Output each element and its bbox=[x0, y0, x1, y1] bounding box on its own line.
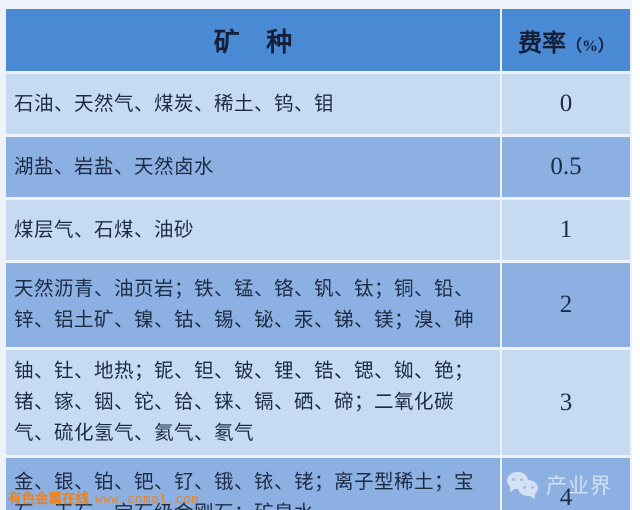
table-header-row: 矿 种 费率（%） bbox=[6, 9, 630, 71]
mineral-fee-rate-table: 矿 种 费率（%） 石油、天然气、煤炭、稀土、钨、钼 0 湖盐、岩盐、天然卤水 … bbox=[4, 6, 632, 510]
cell-mineral: 石油、天然气、煤炭、稀土、钨、钼 bbox=[6, 74, 500, 134]
table-row: 石油、天然气、煤炭、稀土、钨、钼 0 bbox=[6, 74, 630, 134]
screenshot-root: 矿 种 费率（%） 石油、天然气、煤炭、稀土、钨、钼 0 湖盐、岩盐、天然卤水 … bbox=[0, 0, 640, 510]
wechat-dot-icon bbox=[520, 478, 523, 481]
watermark-wechat-label: 产业界 bbox=[546, 470, 612, 500]
cell-mineral: 天然沥青、油页岩；铁、锰、铬、钒、钛；铜、铅、锌、铝土矿、镍、钴、锡、铋、汞、锑… bbox=[6, 263, 500, 347]
cell-mineral: 铀、钍、地热；铌、钽、铍、锂、锆、锶、铷、铯；锗、镓、铟、铊、铪、铼、镉、硒、碲… bbox=[6, 350, 500, 455]
cell-rate: 0 bbox=[502, 74, 630, 134]
column-header-rate-text: 费率 bbox=[518, 31, 566, 57]
table-body: 石油、天然气、煤炭、稀土、钨、钼 0 湖盐、岩盐、天然卤水 0.5 煤层气、石煤… bbox=[6, 74, 630, 510]
column-header-rate-unit: （%） bbox=[566, 38, 614, 55]
table-row: 铀、钍、地热；铌、钽、铍、锂、锆、锶、铷、铯；锗、镓、铟、铊、铪、铼、镉、硒、碲… bbox=[6, 350, 630, 455]
wechat-icon bbox=[507, 472, 541, 498]
cell-rate: 0.5 bbox=[502, 137, 630, 197]
wechat-bubble-small-icon bbox=[518, 480, 538, 496]
cell-mineral: 湖盐、岩盐、天然卤水 bbox=[6, 137, 500, 197]
wechat-dot-icon bbox=[531, 486, 534, 489]
cell-rate: 3 bbox=[502, 350, 630, 455]
column-header-rate: 费率（%） bbox=[502, 9, 630, 71]
mineral-fee-rate-table-container: 矿 种 费率（%） 石油、天然气、煤炭、稀土、钨、钼 0 湖盐、岩盐、天然卤水 … bbox=[0, 0, 632, 510]
wechat-dot-icon bbox=[512, 478, 515, 481]
table-row: 湖盐、岩盐、天然卤水 0.5 bbox=[6, 137, 630, 197]
column-header-mineral: 矿 种 bbox=[6, 9, 500, 71]
cell-rate: 2 bbox=[502, 263, 630, 347]
table-row: 天然沥青、油页岩；铁、锰、铬、钒、钛；铜、铅、锌、铝土矿、镍、钴、锡、铋、汞、锑… bbox=[6, 263, 630, 347]
table-header: 矿 种 费率（%） bbox=[6, 9, 630, 71]
watermark-site-url: www.cnmol.com bbox=[95, 491, 199, 506]
cell-mineral: 煤层气、石煤、油砂 bbox=[6, 200, 500, 260]
wechat-dot-icon bbox=[523, 486, 526, 489]
watermark-site-name: 有色金属在线 bbox=[8, 491, 89, 506]
table-row: 煤层气、石煤、油砂 1 bbox=[6, 200, 630, 260]
watermark-wechat: 产业界 bbox=[507, 467, 627, 503]
watermark-cnmol: 有色金属在线www.cnmol.com bbox=[8, 487, 199, 507]
cell-rate: 1 bbox=[502, 200, 630, 260]
